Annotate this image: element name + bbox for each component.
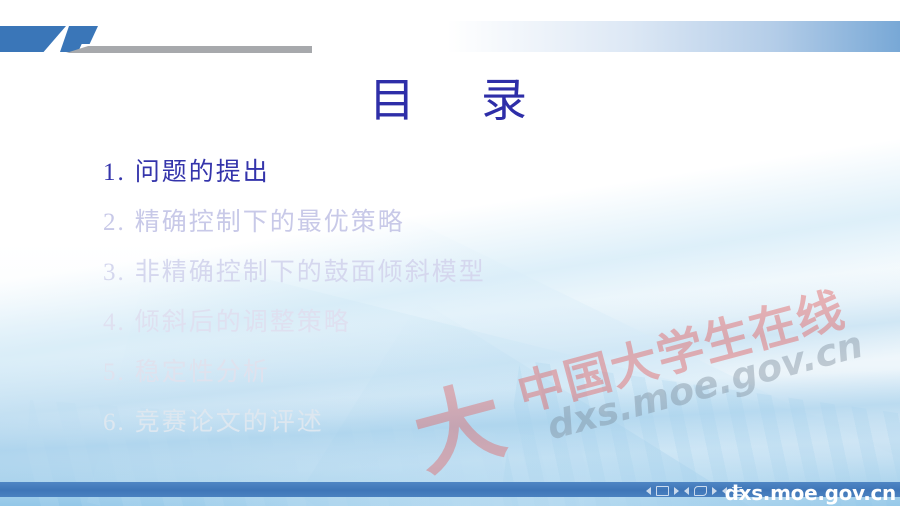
toc-item-number: 5. [103, 359, 126, 386]
header-gradient-band [447, 21, 900, 52]
header-gray-bar [66, 46, 312, 53]
toc-item-number: 1. [103, 159, 126, 186]
toc-item-2[interactable]: 2.精确控制下的最优策略 [103, 198, 803, 248]
toc-item-6[interactable]: 6.竞赛论文的评述 [103, 398, 803, 448]
toc-item-4[interactable]: 4.倾斜后的调整策略 [103, 298, 803, 348]
toc-item-label: 竞赛论文的评述 [135, 409, 324, 436]
toc-item-label: 倾斜后的调整策略 [135, 309, 351, 336]
toc-item-3[interactable]: 3.非精确控制下的鼓面倾斜模型 [103, 248, 803, 298]
presentation-slide: 目 录 1.问题的提出 2.精确控制下的最优策略 3.非精确控制下的鼓面倾斜模型… [0, 0, 900, 506]
prev-arrow-icon[interactable] [646, 487, 651, 495]
toc-item-label: 问题的提出 [135, 159, 270, 186]
toc-item-label: 稳定性分析 [135, 359, 270, 386]
footer-url: dxs.moe.gov.cn [725, 481, 896, 505]
toc-item-5[interactable]: 5.稳定性分析 [103, 348, 803, 398]
toc-item-label: 精确控制下的最优策略 [135, 209, 405, 236]
slide-box-icon[interactable] [656, 486, 669, 496]
toc-item-number: 6. [103, 409, 126, 436]
next-arrow-icon[interactable] [674, 487, 679, 495]
page-title: 目 录 [0, 64, 900, 130]
pen-box-icon[interactable] [694, 486, 707, 496]
toc-item-number: 4. [103, 309, 126, 336]
toc-item-number: 3. [103, 259, 126, 286]
next-arrow-icon[interactable] [712, 487, 717, 495]
prev-arrow-icon[interactable] [684, 487, 689, 495]
toc-item-label: 非精确控制下的鼓面倾斜模型 [135, 259, 486, 286]
toc-item-1[interactable]: 1.问题的提出 [103, 148, 803, 198]
table-of-contents: 1.问题的提出 2.精确控制下的最优策略 3.非精确控制下的鼓面倾斜模型 4.倾… [103, 148, 803, 448]
toc-item-number: 2. [103, 209, 126, 236]
